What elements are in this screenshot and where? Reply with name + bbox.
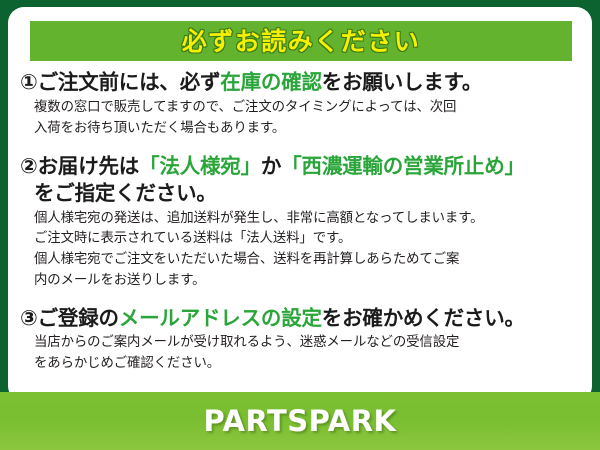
section-1-head-highlight: 在庫の確認 bbox=[220, 70, 322, 94]
notice-section-3: ③ご登録のメールアドレスの設定をお確かめください。 当店からのご案内メールが受け… bbox=[8, 305, 592, 375]
section-3-number: ③ bbox=[20, 306, 38, 330]
section-1-heading: ①ご注文前には、必ず在庫の確認をお願いします。 bbox=[20, 69, 582, 96]
section-3-body-line-2: をあらかじめご確認ください。 bbox=[34, 354, 582, 375]
section-2-heading-line-2: をご指定ください。 bbox=[34, 180, 582, 206]
section-3-heading: ③ご登録のメールアドレスの設定をお確かめください。 bbox=[20, 305, 582, 332]
sections-container: ①ご注文前には、必ず在庫の確認をお願いします。 複数の窓口で販売してますので、ご… bbox=[8, 69, 592, 375]
section-3-head-highlight: メールアドレスの設定 bbox=[119, 306, 322, 330]
section-2-body: 個人様宅宛の発送は、追加送料が発生し、非常に高額となってしまいます。 ご注文時に… bbox=[34, 209, 582, 292]
banner-title: 必ずお読みください bbox=[182, 29, 421, 54]
section-2-body-line-1: 個人様宅宛の発送は、追加送料が発生し、非常に高額となってしまいます。 bbox=[34, 209, 582, 230]
section-2-head-part-3: か bbox=[261, 154, 281, 178]
section-3-body-line-1: 当店からのご案内メールが受け取れるよう、迷惑メールなどの受信設定 bbox=[34, 333, 582, 354]
section-2-body-line-4: 内のメールをお送りします。 bbox=[34, 271, 582, 292]
section-3-head-part-1: ご登録の bbox=[38, 306, 119, 330]
notice-banner: 必ずお読みください ①ご注文前には、必ず在庫の確認をお願いします。 複数の窓口で… bbox=[0, 0, 600, 450]
brand-wordmark: PARTSPARK bbox=[203, 407, 396, 436]
section-3-head-part-3: をお確かめください。 bbox=[322, 306, 525, 330]
notice-section-1: ①ご注文前には、必ず在庫の確認をお願いします。 複数の窓口で販売してますので、ご… bbox=[8, 69, 592, 139]
title-banner: 必ずお読みください bbox=[30, 21, 572, 61]
section-2-head-part-1: お届け先は bbox=[38, 154, 140, 178]
section-1-head-part-3: をお願いします。 bbox=[322, 70, 482, 94]
section-2-head-highlight-1: 「法人様宛」 bbox=[139, 154, 261, 178]
section-1-number: ① bbox=[20, 70, 38, 94]
section-2-head-highlight-2: 「西濃運輸の営業所止め」 bbox=[281, 154, 525, 178]
section-1-body-line-2: 入荷をお待ち頂いただく場合もあります。 bbox=[34, 119, 582, 140]
section-1-body: 複数の窓口で販売してますので、ご注文のタイミングによっては、次回 入荷をお待ち頂… bbox=[34, 98, 582, 140]
section-3-body: 当店からのご案内メールが受け取れるよう、迷惑メールなどの受信設定 をあらかじめご… bbox=[34, 333, 582, 375]
section-2-body-line-2: ご注文時に表示されている送料は「法人送料」です。 bbox=[34, 229, 582, 250]
notice-section-2: ②お届け先は「法人様宛」か「西濃運輸の営業所止め」 をご指定ください。 個人様宅… bbox=[8, 153, 592, 291]
section-1-head-part-1: ご注文前には、必ず bbox=[38, 70, 221, 94]
section-2-number: ② bbox=[20, 154, 38, 178]
content-panel: 必ずお読みください ①ご注文前には、必ず在庫の確認をお願いします。 複数の窓口で… bbox=[8, 7, 592, 402]
section-2-body-line-3: 個人様宅宛でご注文をいただいた場合、送料を再計算しあらためてご案 bbox=[34, 250, 582, 271]
footer-brand-bar: PARTSPARK bbox=[0, 392, 600, 450]
section-1-body-line-1: 複数の窓口で販売してますので、ご注文のタイミングによっては、次回 bbox=[34, 98, 582, 119]
section-2-heading: ②お届け先は「法人様宛」か「西濃運輸の営業所止め」 をご指定ください。 bbox=[20, 153, 582, 206]
